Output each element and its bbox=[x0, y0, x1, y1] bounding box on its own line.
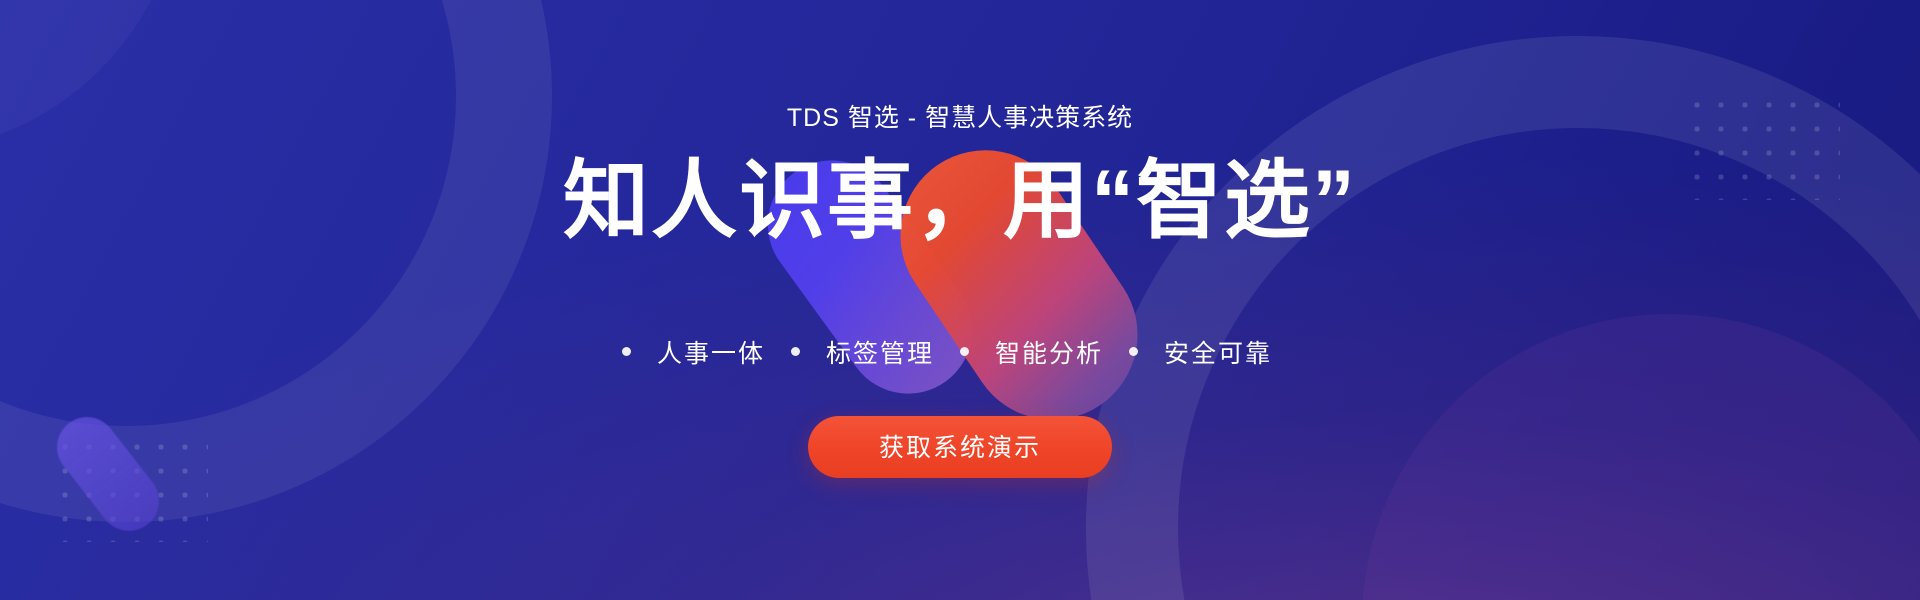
bullet-dot-icon bbox=[791, 347, 800, 356]
page-title: 知人识事，用“智选” bbox=[563, 156, 1357, 246]
cta-container: 获取系统演示 bbox=[808, 416, 1112, 478]
get-demo-button[interactable]: 获取系统演示 bbox=[808, 416, 1112, 478]
product-eyebrow: TDS 智选 - 智慧人事决策系统 bbox=[787, 98, 1133, 134]
feature-item-4: 安全可靠 bbox=[1138, 334, 1298, 370]
bullet-dot-icon bbox=[960, 347, 969, 356]
bullet-dot-icon bbox=[1129, 347, 1138, 356]
bullet-dot-icon bbox=[622, 347, 631, 356]
feature-list: 人事一体 标签管理 智能分析 安全可靠 bbox=[622, 334, 1298, 370]
feature-item-1: 人事一体 bbox=[631, 334, 791, 370]
hero-banner: TDS 智选 - 智慧人事决策系统 知人识事，用“智选” 人事一体 标签管理 智… bbox=[0, 0, 1920, 600]
feature-item-2: 标签管理 bbox=[800, 334, 960, 370]
hero-content: TDS 智选 - 智慧人事决策系统 知人识事，用“智选” 人事一体 标签管理 智… bbox=[0, 0, 1920, 600]
feature-item-3: 智能分析 bbox=[969, 334, 1129, 370]
